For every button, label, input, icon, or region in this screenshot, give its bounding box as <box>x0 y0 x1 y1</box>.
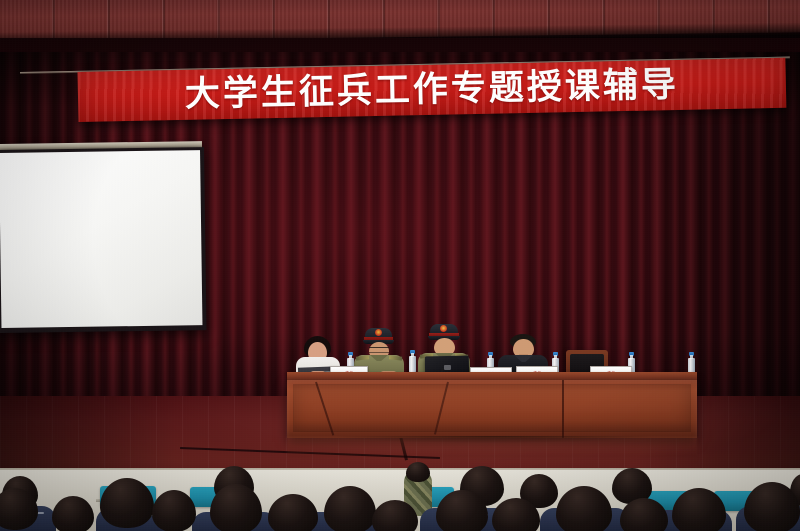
photo-scene: 大学生征兵工作专题授课辅导 <box>0 0 800 531</box>
audience-head <box>100 478 154 528</box>
glasses-icon <box>369 347 389 353</box>
cap-emblem-icon <box>440 325 447 332</box>
projection-screen-surface <box>0 150 202 328</box>
laptop-logo-icon <box>444 365 451 370</box>
table-floor-reflection <box>287 437 697 463</box>
audience-head <box>152 490 196 531</box>
cap-emblem-icon <box>375 329 382 336</box>
bottle-body <box>409 356 416 373</box>
water-bottle <box>409 350 416 373</box>
table-panel-seam <box>562 380 564 438</box>
projection-screen <box>0 147 207 333</box>
table-front-panel <box>287 380 697 438</box>
banner-title: 大学生征兵工作专题授课辅导 <box>185 67 680 112</box>
audience-head <box>406 462 430 482</box>
